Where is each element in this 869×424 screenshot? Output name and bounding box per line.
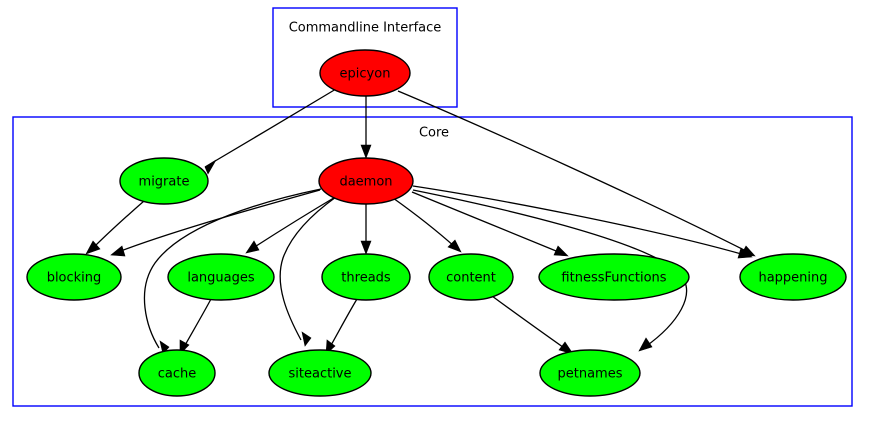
edge-epicyon-to-daemon	[361, 96, 371, 158]
edge-line	[412, 192, 561, 253]
node-shape-blocking[interactable]	[27, 254, 121, 300]
dependency-graph: Commandline InterfaceCore epicyonmigrate…	[0, 0, 869, 424]
edge-arrowhead	[361, 241, 371, 254]
node-shape-content[interactable]	[429, 254, 513, 300]
cluster-label: Commandline Interface	[289, 21, 442, 36]
edge-arrowhead	[361, 145, 371, 158]
node-happening[interactable]: happening	[740, 254, 846, 300]
node-fitnessFunctions[interactable]: fitnessFunctions	[539, 254, 689, 300]
node-shape-cache[interactable]	[139, 350, 215, 396]
edge-arrowhead	[246, 241, 259, 253]
node-petnames[interactable]: petnames	[540, 350, 640, 396]
cluster-label: Core	[419, 126, 449, 141]
clusters-layer: Commandline InterfaceCore	[13, 8, 852, 406]
node-shape-migrate[interactable]	[120, 158, 208, 204]
edge-epicyon-to-happening	[398, 91, 755, 256]
cluster-border	[13, 117, 852, 406]
edge-arrowhead	[639, 338, 652, 351]
edge-daemon-to-happening	[413, 186, 752, 258]
nodes-layer: epicyonmigratedaemonblockinglanguagesthr…	[27, 50, 846, 396]
edge-arrowhead	[205, 160, 216, 174]
cluster-core: Core	[13, 117, 852, 406]
node-blocking[interactable]: blocking	[27, 254, 121, 300]
edge-line	[330, 299, 357, 347]
node-shape-happening[interactable]	[740, 254, 846, 300]
edge-daemon-to-threads	[361, 204, 371, 254]
edge-line	[184, 299, 211, 347]
node-shape-threads[interactable]	[322, 254, 410, 300]
edge-daemon-to-content	[393, 198, 461, 252]
node-siteactive[interactable]: siteactive	[269, 350, 371, 396]
edge-arrowhead	[302, 332, 311, 346]
node-shape-epicyon[interactable]	[320, 50, 410, 96]
node-shape-petnames[interactable]	[540, 350, 640, 396]
graph-canvas: Commandline InterfaceCore epicyonmigrate…	[0, 0, 869, 424]
edge-line	[253, 196, 337, 248]
edge-line	[92, 201, 144, 249]
node-shape-languages[interactable]	[168, 254, 274, 300]
edge-content-to-petnames	[492, 296, 573, 354]
edge-daemon-to-fitnessFunctions	[412, 192, 568, 256]
node-shape-siteactive[interactable]	[269, 350, 371, 396]
edge-threads-to-siteactive	[326, 299, 357, 354]
edge-arrowhead	[554, 246, 568, 256]
node-languages[interactable]: languages	[168, 254, 274, 300]
edge-epicyon-to-migrate	[205, 89, 336, 174]
edge-line	[413, 186, 745, 255]
edge-line	[205, 89, 336, 167]
node-shape-daemon[interactable]	[319, 158, 413, 204]
node-content[interactable]: content	[429, 254, 513, 300]
edge-languages-to-cache	[180, 299, 211, 354]
node-cache[interactable]: cache	[139, 350, 215, 396]
node-daemon[interactable]: daemon	[319, 158, 413, 204]
node-epicyon[interactable]: epicyon	[320, 50, 410, 96]
edge-arrowhead	[111, 246, 125, 256]
node-migrate[interactable]: migrate	[120, 158, 208, 204]
edge-line	[492, 296, 567, 350]
node-threads[interactable]: threads	[322, 254, 410, 300]
node-shape-fitnessFunctions[interactable]	[539, 254, 689, 300]
